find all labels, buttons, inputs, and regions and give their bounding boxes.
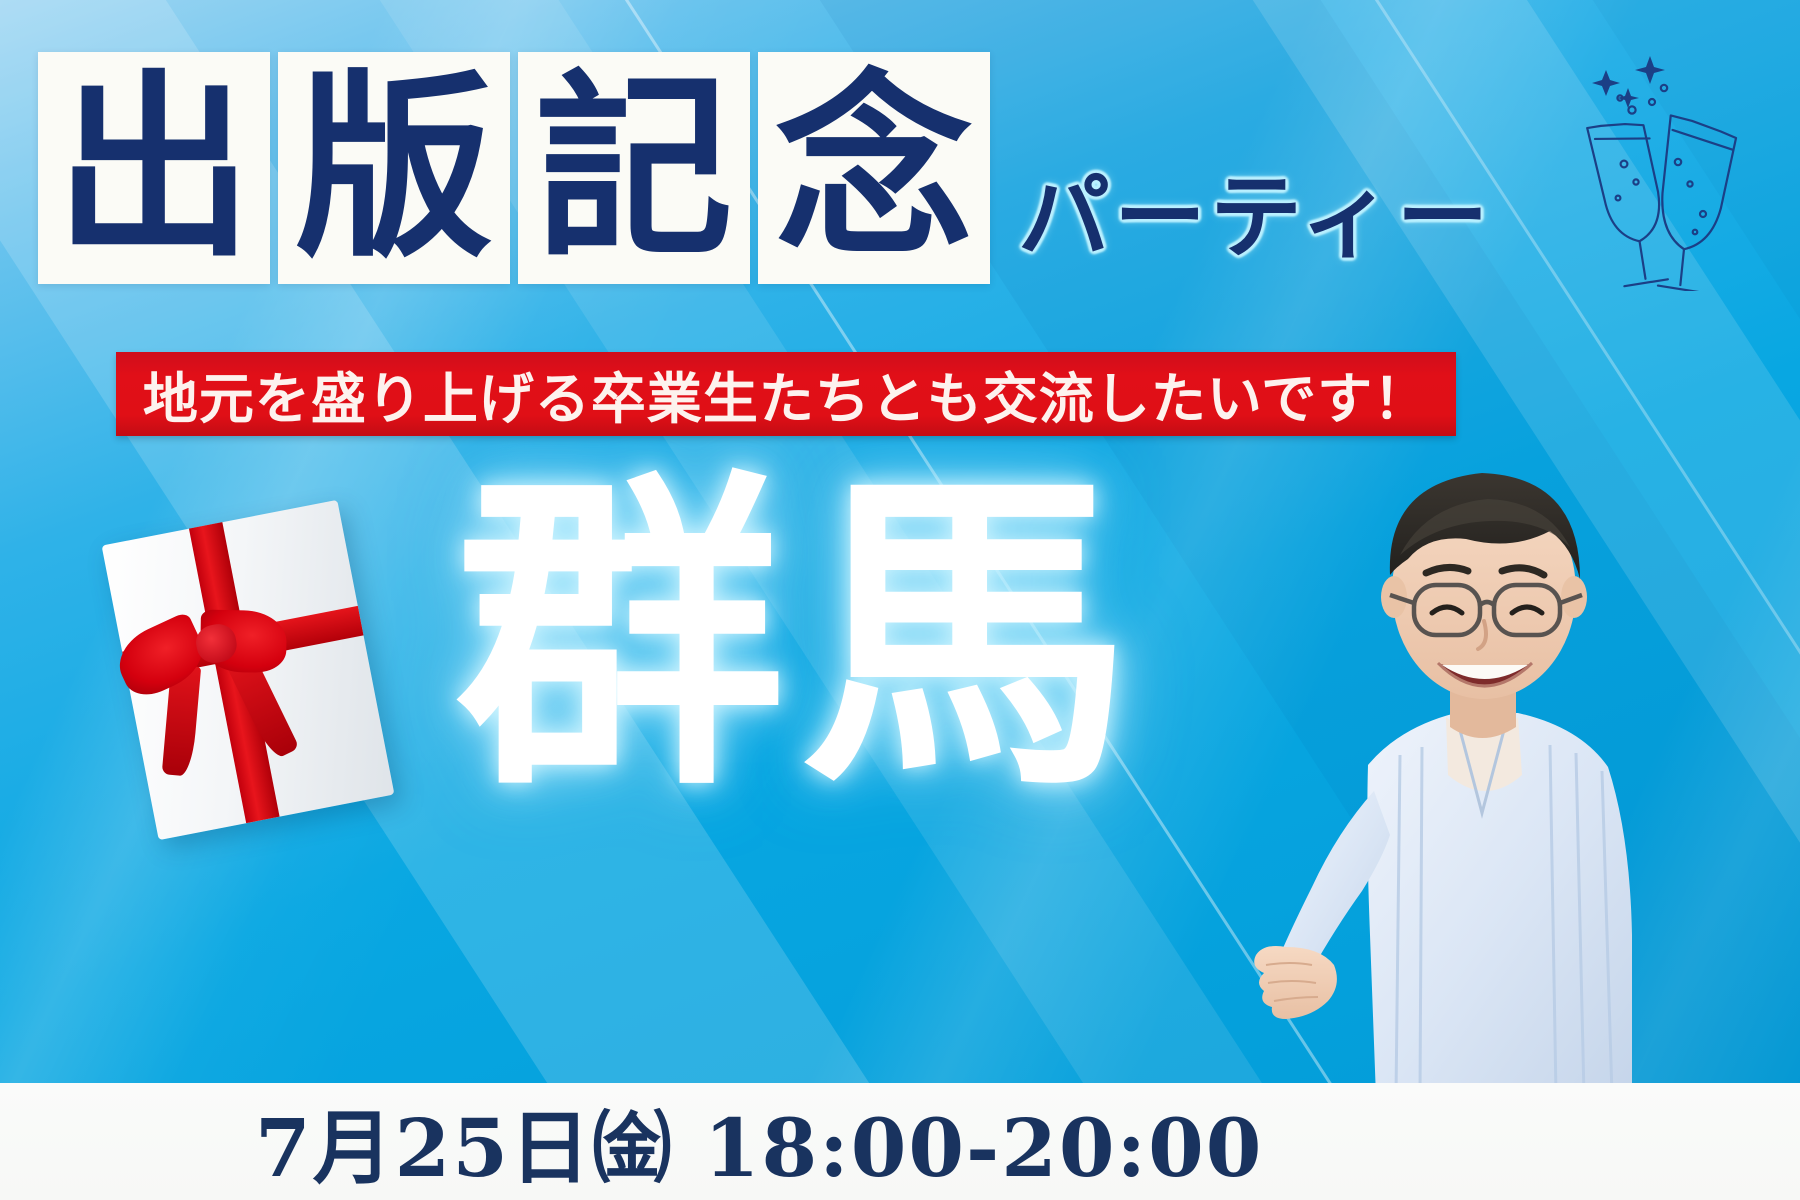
title-char-4: 念 (775, 69, 973, 267)
prefecture-headline: 群馬 (455, 470, 1147, 800)
title-char-1: 出 (55, 69, 253, 267)
title-char-box-3: 記 (518, 52, 750, 284)
event-poster: 出 版 記 念 パーティー 地元を盛り上げる卒業生たちとも交流したいです！ 群馬 (0, 0, 1800, 1200)
title-char-box-2: 版 (278, 52, 510, 284)
subtitle-banner-text: 地元を盛り上げる卒業生たちとも交流したいです！ (143, 354, 1429, 434)
title-char-2: 版 (295, 69, 493, 267)
title-suffix-party: パーティー (1018, 143, 1492, 284)
event-date-time: 7月25日㈮ 18:00-20:00 (255, 1084, 1263, 1200)
subtitle-banner: 地元を盛り上げる卒業生たちとも交流したいです！ (116, 352, 1456, 436)
main-title: 出 版 記 念 パーティー (38, 52, 1492, 284)
date-bar: 7月25日㈮ 18:00-20:00 (0, 1083, 1800, 1200)
title-char-box-1: 出 (38, 52, 270, 284)
title-char-box-4: 念 (758, 52, 990, 284)
title-char-3: 記 (535, 69, 733, 267)
